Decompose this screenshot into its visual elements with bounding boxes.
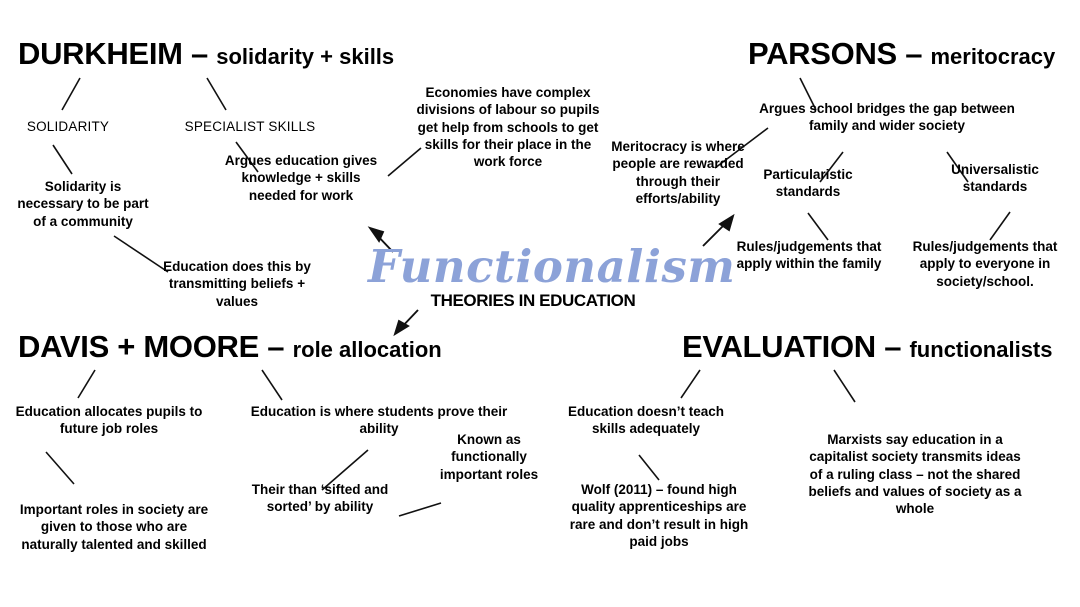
mindmap-canvas: DURKHEIM – solidarity + skills SOLIDARIT… <box>0 0 1080 607</box>
connector-solidarity-detail <box>53 145 72 174</box>
heading-evaluation: EVALUATION – functionalists <box>682 331 1053 362</box>
node-important-roles-talented: Important roles in society are given to … <box>6 501 222 553</box>
connector-durkheim-solidarity <box>62 78 80 110</box>
node-argues-school-bridges: Argues school bridges the gap between fa… <box>742 100 1032 135</box>
heading-durkheim-sub: solidarity + skills <box>216 44 394 69</box>
heading-evaluation-dash: – <box>876 329 910 364</box>
node-education-allocates-pupils: Education allocates pupils to future job… <box>6 403 212 438</box>
heading-evaluation-sub: functionalists <box>909 337 1052 362</box>
arrow-line-bottom-left <box>399 310 418 330</box>
heading-davis-moore-dash: – <box>259 329 293 364</box>
heading-davis-moore: DAVIS + MOORE – role allocation <box>18 331 442 362</box>
node-specialist-skills: SPECIALIST SKILLS <box>176 118 324 135</box>
page-title: Functionalism <box>368 244 698 290</box>
heading-durkheim-dash: – <box>183 36 217 71</box>
node-meritocracy-rewarded: Meritocracy is where people are rewarded… <box>608 138 748 207</box>
node-universalistic-standards: Universalistic standards <box>932 161 1058 196</box>
heading-durkheim: DURKHEIM – solidarity + skills <box>18 38 394 69</box>
node-economies-complex-divisions: Economies have complex divisions of labo… <box>410 84 606 170</box>
node-particularistic-standards: Particularistic standards <box>744 166 872 201</box>
node-marxists-capitalist-society: Marxists say education in a capitalist s… <box>796 431 1034 517</box>
node-argues-education-gives: Argues education gives knowledge + skill… <box>216 152 386 204</box>
node-wolf-2011-apprenticeships: Wolf (2011) – found high quality apprent… <box>566 481 752 550</box>
node-education-doesnt-teach: Education doesn’t teach skills adequatel… <box>558 403 734 438</box>
connector-sifted-known <box>399 503 441 516</box>
node-rules-everyone-society: Rules/judgements that apply to everyone … <box>906 238 1064 290</box>
node-transmitting-beliefs: Education does this by transmitting beli… <box>158 258 316 310</box>
heading-parsons-dash: – <box>897 36 931 71</box>
connector-doesnt-wolf <box>639 455 659 480</box>
connector-evaluation-doesnt <box>681 370 700 398</box>
node-known-as-functionally-important: Known as functionally important roles <box>428 431 550 483</box>
heading-durkheim-main: DURKHEIM <box>18 36 183 71</box>
connector-davis-prove <box>262 370 282 400</box>
connector-particularistic-rules <box>808 213 828 240</box>
node-solidarity-detail: Solidarity is necessary to be part of a … <box>2 178 164 230</box>
connector-evaluation-marxists <box>834 370 855 402</box>
connector-universalistic-rules <box>990 212 1010 240</box>
heading-parsons-sub: meritocracy <box>930 44 1055 69</box>
arrow-head-right-up <box>720 216 733 230</box>
heading-evaluation-main: EVALUATION <box>682 329 876 364</box>
connector-allocates-important <box>46 452 74 484</box>
heading-parsons: PARSONS – meritocracy <box>748 38 1055 69</box>
node-rules-within-family: Rules/judgements that apply within the f… <box>730 238 888 273</box>
node-solidarity: SOLIDARITY <box>8 118 128 135</box>
node-sifted-and-sorted: Their than ‘sifted and sorted’ by abilit… <box>246 481 394 516</box>
connector-davis-allocates <box>78 370 95 398</box>
page-subtitle: THEORIES IN EDUCATION <box>368 291 698 311</box>
heading-parsons-main: PARSONS <box>748 36 897 71</box>
connector-durkheim-specialist <box>207 78 226 110</box>
heading-davis-moore-main: DAVIS + MOORE <box>18 329 259 364</box>
heading-davis-moore-sub: role allocation <box>293 337 442 362</box>
center-block: Functionalism THEORIES IN EDUCATION <box>368 244 698 311</box>
